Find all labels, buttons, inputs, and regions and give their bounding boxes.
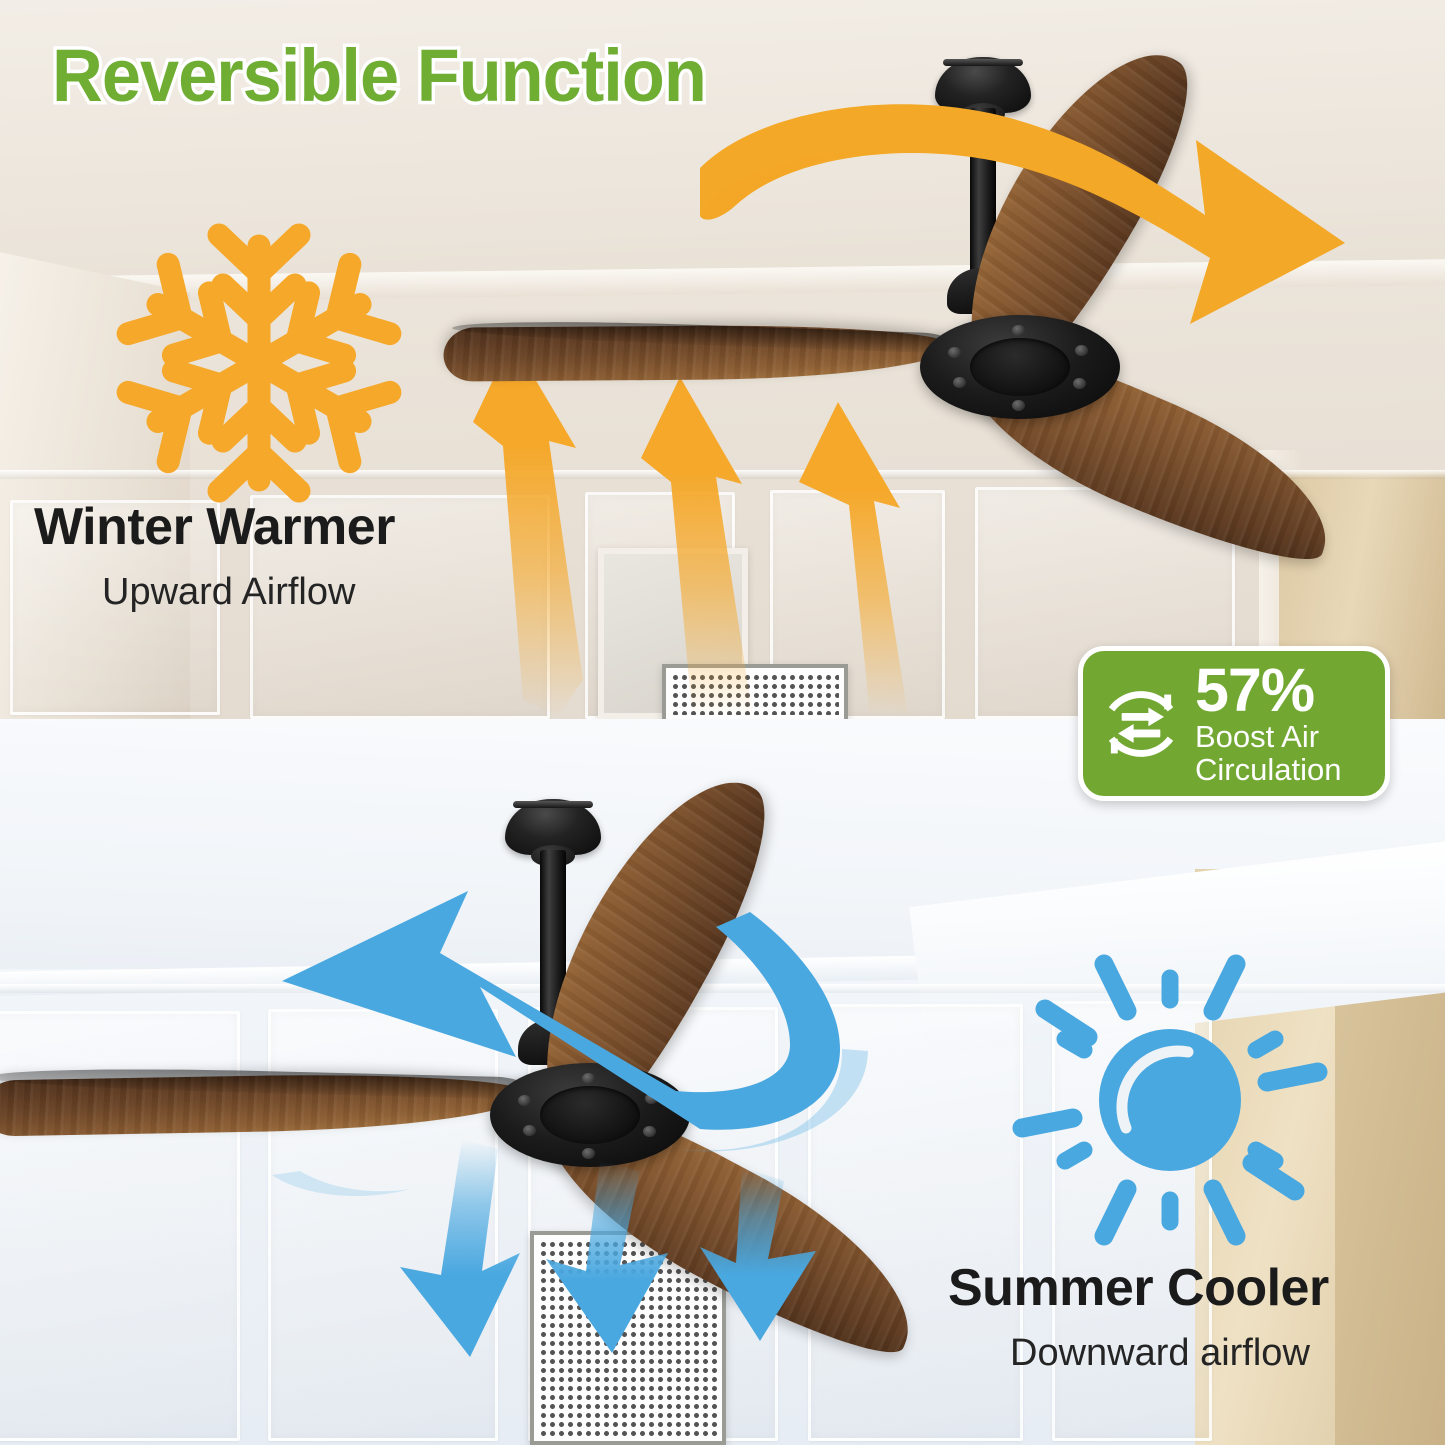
badge-line-2: Circulation <box>1195 753 1341 786</box>
badge-percent: 57% <box>1195 661 1341 720</box>
airflow-arrow <box>400 1139 520 1357</box>
winter-subheading: Upward Airflow <box>34 571 395 614</box>
winter-heading: Winter Warmer <box>34 497 395 557</box>
summer-subheading: Downward airflow <box>948 1332 1329 1375</box>
winter-label-group: Winter Warmer Upward Airflow <box>34 497 395 614</box>
page-title: Reversible Function <box>52 33 706 118</box>
airflow-arrow <box>700 1167 816 1341</box>
badge-text-group: 57% Boost Air Circulation <box>1195 661 1341 786</box>
summer-label-group: Summer Cooler Downward airflow <box>948 1258 1329 1375</box>
boost-air-circulation-badge: 57% Boost Air Circulation <box>1078 646 1390 801</box>
reverse-circulation-icon <box>1095 678 1187 770</box>
badge-line-1: Boost Air <box>1195 720 1341 753</box>
product-feature-image: Reversible Function Winter Warmer Upward… <box>0 0 1445 1445</box>
airflow-arrow <box>546 1161 668 1353</box>
summer-heading: Summer Cooler <box>948 1258 1329 1318</box>
